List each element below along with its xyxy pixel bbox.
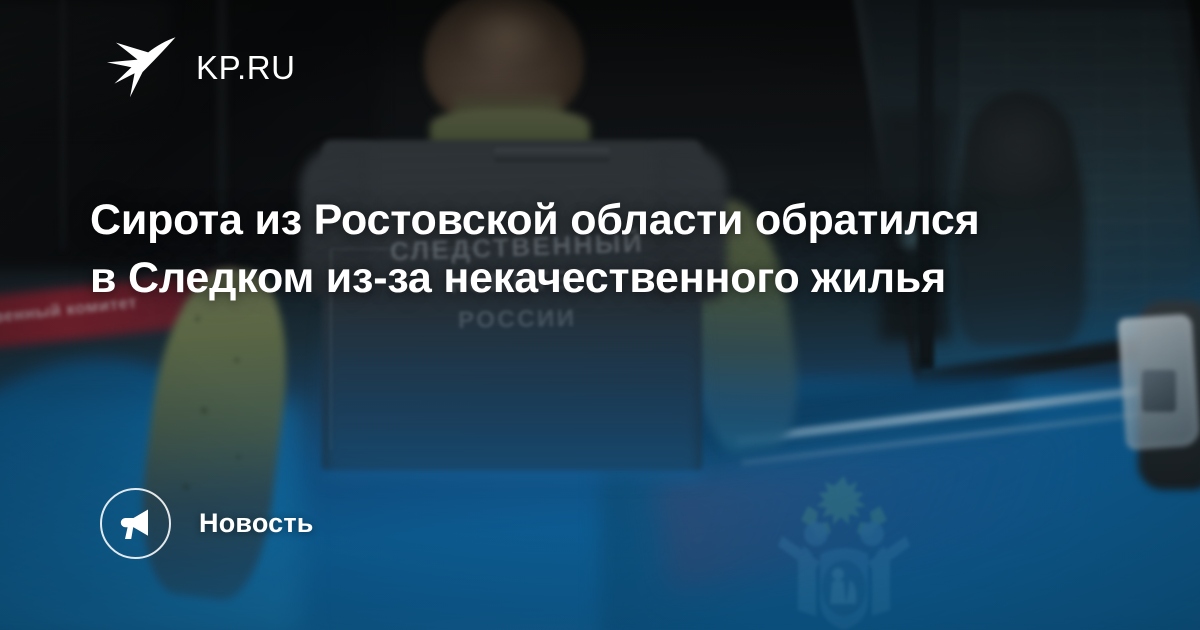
brand-name: KP.RU (196, 51, 296, 84)
news-share-card: ственный комитет (0, 0, 1200, 630)
content-type-label: Новость (199, 508, 314, 539)
content-type-tag[interactable]: Новость (100, 488, 314, 559)
swallow-bird-icon (104, 34, 178, 100)
brand-lockup[interactable]: KP.RU (104, 34, 296, 100)
headline: Сирота из Ростовской области обратился в… (90, 192, 990, 307)
megaphone-icon (100, 488, 171, 559)
